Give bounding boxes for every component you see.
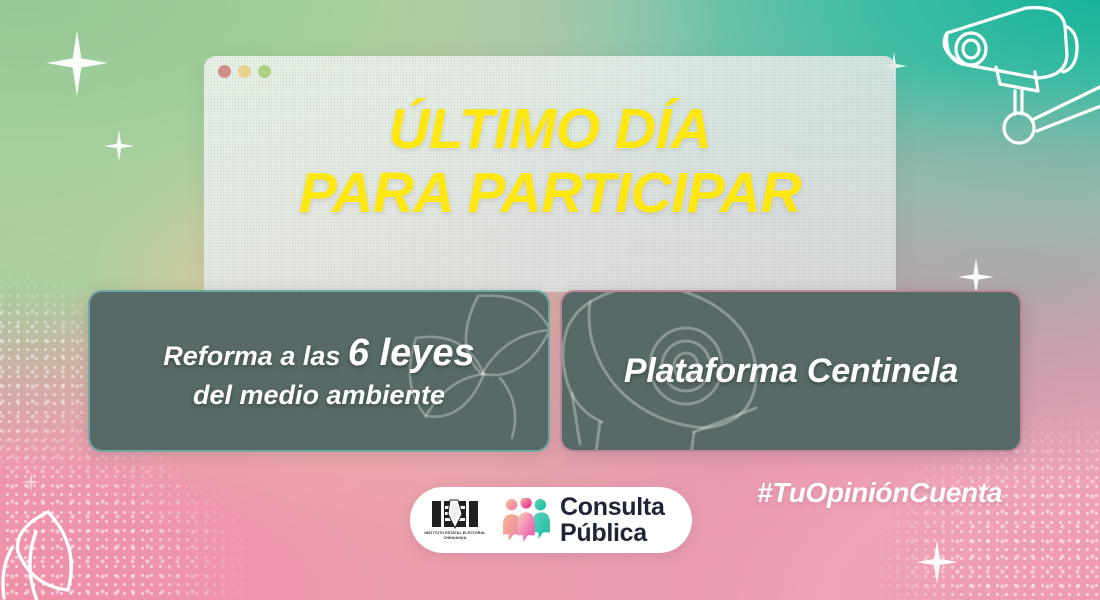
headline-line-2: PARA PARTICIPAR (204, 166, 896, 221)
reforma-emphasis: 6 leyes (348, 332, 475, 374)
reforma-lead: Reforma a las (163, 341, 348, 371)
poster-canvas: ÚLTIMO DÍA PARA PARTICIPAR Reforma a las… (0, 0, 1100, 600)
iee-mark-icon (431, 499, 479, 529)
browser-titlebar (204, 56, 896, 86)
maximize-dot-icon[interactable] (258, 65, 271, 78)
iee-logo-caption: INSTITUTO ESTATAL ELECTORAL CHIHUAHUA (424, 531, 485, 541)
close-dot-icon[interactable] (218, 65, 231, 78)
consulta-publica-label: Consulta Pública (560, 494, 665, 546)
browser-window-mock: ÚLTIMO DÍA PARA PARTICIPAR (204, 56, 896, 292)
card-reforma-text: Reforma a las 6 leyes del medio ambiente (145, 330, 492, 412)
people-speech-bubbles-icon (501, 498, 551, 542)
page-title: ÚLTIMO DÍA PARA PARTICIPAR (204, 102, 896, 220)
card-centinela-title: Plataforma Centinela (606, 352, 976, 391)
hashtag-label: #TuOpiniónCuenta (757, 477, 1002, 509)
minimize-dot-icon[interactable] (238, 65, 251, 78)
consulta-publica-badge[interactable]: INSTITUTO ESTATAL ELECTORAL CHIHUAHUA (410, 487, 692, 553)
card-centinela[interactable]: Plataforma Centinela (560, 290, 1022, 452)
card-reforma[interactable]: Reforma a las 6 leyes del medio ambiente (88, 290, 550, 452)
reforma-line-2: del medio ambiente (163, 378, 474, 412)
headline-line-1: ÚLTIMO DÍA (388, 97, 711, 161)
iee-logo: INSTITUTO ESTATAL ELECTORAL CHIHUAHUA (418, 492, 492, 548)
